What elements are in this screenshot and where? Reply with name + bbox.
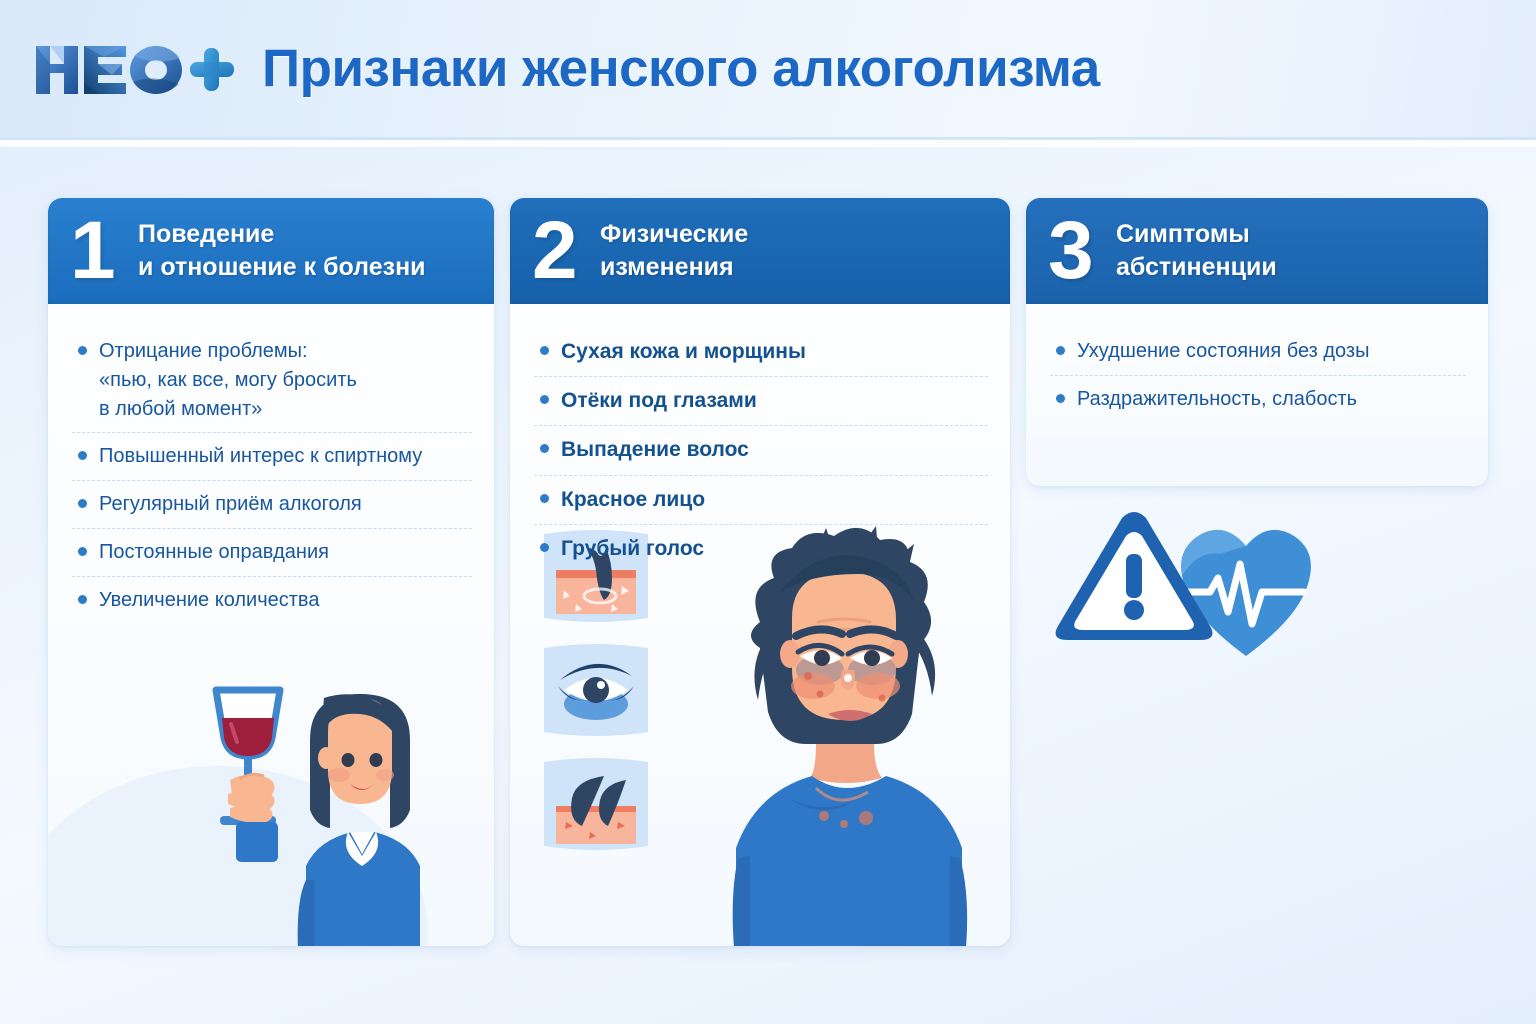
- card3-list: Ухудшение состояния без дозы Раздражител…: [1050, 328, 1466, 423]
- list-item-label: Регулярный приём алкоголя: [99, 490, 362, 519]
- list-item-label: Грубый голос: [561, 534, 704, 564]
- card-behavior: 1 Поведение и отношение к болезни Отрица…: [48, 198, 494, 946]
- header-divider: [0, 140, 1536, 147]
- card-physical-changes: 2 Физические изменения Сухая кожа и морщ…: [510, 198, 1010, 946]
- bullet-icon: [540, 444, 549, 453]
- list-item: Повышенный интерес к спиртному: [72, 432, 472, 480]
- card1-list: Отрицание проблемы:«пью, как все, могу б…: [72, 328, 472, 624]
- list-item-label: Сухая кожа и морщины: [561, 337, 806, 367]
- list-item-label: Увеличение количества: [99, 586, 319, 615]
- card1-title-line1: Поведение: [138, 218, 426, 251]
- page-header: Признаки женского алкоголизма: [0, 0, 1536, 140]
- list-item: Раздражительность, слабость: [1050, 375, 1466, 423]
- heart-pulse-icon: [1181, 530, 1311, 656]
- card1-number: 1: [70, 219, 132, 283]
- card2-title-line1: Физические: [600, 218, 748, 251]
- bullet-icon: [78, 451, 87, 460]
- card1-body: Отрицание проблемы:«пью, как все, могу б…: [48, 304, 494, 634]
- bullet-icon: [540, 494, 549, 503]
- card1-header: 1 Поведение и отношение к болезни: [48, 198, 494, 304]
- card2-number: 2: [532, 219, 594, 283]
- card3-number: 3: [1048, 219, 1110, 283]
- card2-title-line2: изменения: [600, 251, 748, 284]
- card2-title: Физические изменения: [600, 218, 748, 284]
- bullet-icon: [78, 595, 87, 604]
- bullet-icon: [540, 395, 549, 404]
- bullet-icon: [1056, 346, 1065, 355]
- hair-loss-icon: [544, 758, 648, 850]
- list-item: Регулярный приём алкоголя: [72, 480, 472, 528]
- card1-background-wash: [48, 766, 428, 946]
- list-item-label: Отёки под глазами: [561, 386, 757, 416]
- card3-title-line2: абстиненции: [1116, 251, 1277, 284]
- bullet-icon: [540, 543, 549, 552]
- card3-body: Ухудшение состояния без дозы Раздражител…: [1026, 304, 1488, 433]
- list-item: Отёки под глазами: [534, 376, 988, 425]
- list-item: Отрицание проблемы:«пью, как все, могу б…: [72, 328, 472, 432]
- list-item-label: Отрицание проблемы:«пью, как все, могу б…: [99, 337, 357, 423]
- cards-grid: 1 Поведение и отношение к болезни Отрица…: [0, 152, 1536, 1024]
- list-item: Сухая кожа и морщины: [534, 328, 988, 376]
- list-item: Увеличение количества: [72, 576, 472, 624]
- warning-and-heart-pulse-illustration: [1050, 500, 1340, 690]
- list-item: Постоянные оправдания: [72, 528, 472, 576]
- list-item: Красное лицо: [534, 475, 988, 524]
- neo-plus-logo[interactable]: [34, 40, 234, 98]
- card1-title-line2: и отношение к болезни: [138, 251, 426, 284]
- card3-title: Симптомы абстиненции: [1116, 218, 1277, 284]
- list-item: Грубый голос: [534, 524, 988, 573]
- bullet-icon: [78, 346, 87, 355]
- neo-plus-logo-icon: [34, 40, 234, 98]
- list-item: Ухудшение состояния без дозы: [1050, 328, 1466, 375]
- list-item-label: Повышенный интерес к спиртному: [99, 442, 422, 471]
- warning-triangle-icon: [1056, 512, 1213, 640]
- bullet-icon: [78, 499, 87, 508]
- list-item: Выпадение волос: [534, 425, 988, 474]
- eye-with-bag-icon: [544, 644, 648, 736]
- card2-header: 2 Физические изменения: [510, 198, 1010, 304]
- card-withdrawal-symptoms: 3 Симптомы абстиненции Ухудшение состоян…: [1026, 198, 1488, 486]
- card3-header: 3 Симптомы абстиненции: [1026, 198, 1488, 304]
- card1-title: Поведение и отношение к болезни: [138, 218, 426, 284]
- card3-title-line1: Симптомы: [1116, 218, 1277, 251]
- list-item-label: Выпадение волос: [561, 435, 749, 465]
- bullet-icon: [540, 346, 549, 355]
- list-item-label: Ухудшение состояния без дозы: [1077, 337, 1369, 366]
- list-item-label: Красное лицо: [561, 485, 705, 515]
- bullet-icon: [1056, 394, 1065, 403]
- page-title: Признаки женского алкоголизма: [262, 38, 1100, 99]
- bullet-icon: [78, 547, 87, 556]
- card2-list: Сухая кожа и морщины Отёки под глазами В…: [534, 328, 988, 573]
- card2-body: Сухая кожа и морщины Отёки под глазами В…: [510, 304, 1010, 583]
- list-item-label: Постоянные оправдания: [99, 538, 329, 567]
- list-item-label: Раздражительность, слабость: [1077, 385, 1357, 414]
- tired-woman-face: [733, 526, 967, 946]
